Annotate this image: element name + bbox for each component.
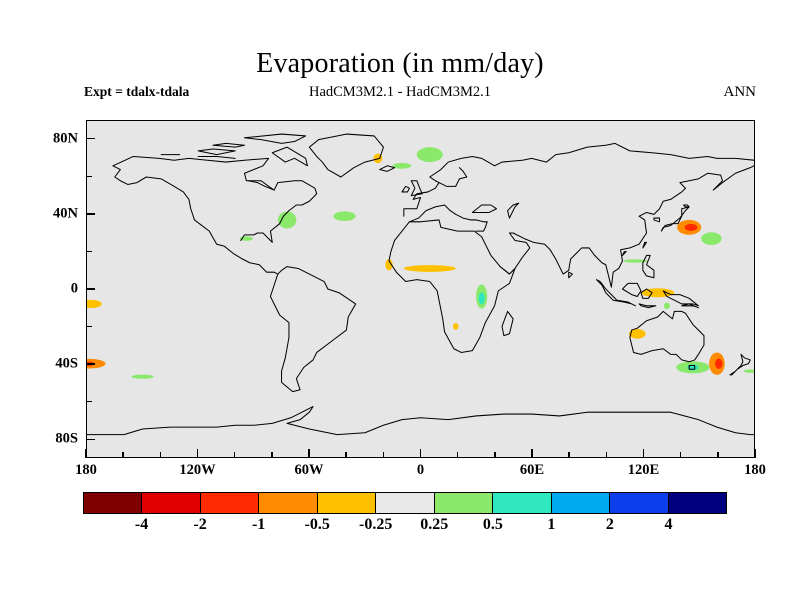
y-tick [86,439,95,440]
coastline [639,304,656,308]
colorbar-segment-3 [259,493,317,513]
x-tick [345,452,346,458]
coastline [569,272,573,278]
y-tick [86,401,92,402]
x-tick [308,449,309,458]
colorbar-segment-4 [318,493,376,513]
colorbar-label-7: 1 [547,516,555,534]
x-tick [85,449,86,458]
anomaly-patch-3 [278,212,297,229]
x-tick-label-6: 180 [744,462,766,479]
coastline [309,134,383,177]
coastline-layer [87,134,754,435]
x-tick [271,452,272,458]
x-tick [643,449,644,458]
y-tick [86,251,92,252]
coastline [500,166,754,287]
x-tick [754,449,755,458]
colorbar-segment-7 [493,493,551,513]
y-tick [86,326,92,327]
anomaly-patch-5 [333,211,355,221]
coastline [272,147,307,166]
coastline [198,156,235,158]
coastline [622,252,626,256]
x-tick-label-0: 180 [75,462,97,479]
anomaly-patch-8 [393,163,412,169]
coastline [404,143,754,216]
page-title: Evaporation (in mm/day) [0,48,800,80]
colorbar-segment-2 [201,493,259,513]
x-tick [160,452,161,458]
anomaly-patch-25 [715,358,722,368]
coastline [643,242,647,248]
colorbar-segment-0 [84,493,142,513]
x-tick-label-3: 0 [417,462,424,479]
x-tick-label-1: 120W [179,462,215,479]
x-tick-label-5: 120E [628,462,659,479]
coastline [270,267,355,392]
coastline [684,205,690,207]
colorbar-label-6: 0.5 [483,516,503,534]
y-tick [86,138,95,139]
y-tick-label-4: 80S [55,431,78,448]
coastline [87,407,754,435]
x-tick [531,449,532,458]
anomaly-patch-13 [453,323,459,330]
colorbar-segment-6 [435,493,493,513]
x-tick [717,452,718,458]
colorbar-label-0: -4 [135,516,148,534]
colorbar-segment-10 [669,493,726,513]
coastline [248,181,274,190]
x-tick [457,452,458,458]
coastline [508,203,519,218]
anomaly-patch-layer [87,147,754,379]
y-tick-label-2: 0 [71,281,78,298]
anomaly-patch-26 [744,369,754,372]
colorbar-segment-5 [376,493,434,513]
colorbar-segment-9 [610,493,668,513]
coastline [622,283,641,296]
anomaly-patch-14 [87,300,102,308]
colorbar-segment-1 [142,493,200,513]
coastline [409,205,487,231]
x-tick [420,449,421,458]
x-tick [197,449,198,458]
coastline [439,168,467,187]
x-tick [680,452,681,458]
colorbar-label-3: -0.5 [305,516,330,534]
y-tick-label-3: 40S [55,356,78,373]
world-map-plot [86,120,755,458]
coastline [472,205,496,212]
x-tick [568,452,569,458]
x-tick [494,452,495,458]
x-tick [606,452,607,458]
x-tick [383,452,384,458]
coastline [113,156,317,242]
anomaly-patch-7 [417,147,443,162]
anomaly-patch-17 [701,232,721,245]
coastline [389,220,515,353]
coastline [380,166,395,172]
y-tick [86,213,95,214]
colorbar-segment-8 [552,493,610,513]
y-tick-label-1: 40N [53,205,78,222]
colorbar-label-4: -0.25 [359,516,392,534]
x-tick [122,452,123,458]
colorbar-label-9: 4 [664,516,672,534]
coastline [213,143,244,147]
x-tick [234,452,235,458]
season-label: ANN [724,84,757,101]
y-tick [86,176,92,177]
colorbar-label-8: 2 [606,516,614,534]
coastline [654,218,660,222]
coastline [502,311,513,335]
model-label: HadCM3M2.1 - HadCM3M2.1 [0,84,800,101]
y-tick [86,363,95,364]
anomaly-patch-21 [664,302,670,309]
colorbar-label-1: -2 [193,516,206,534]
anomaly-patch-16 [685,224,698,231]
anomaly-patch-10 [404,265,456,272]
x-tick-label-4: 60E [520,462,544,479]
colorbar [83,492,727,514]
colorbar-label-5: 0.25 [420,516,448,534]
coastline [244,134,305,143]
x-tick-label-2: 60W [295,462,324,479]
colorbar-label-2: -1 [252,516,265,534]
map-canvas [87,121,754,457]
y-tick-label-0: 80N [53,130,78,147]
anomaly-patch-12 [478,292,484,304]
chart-header: Evaporation (in mm/day) Expt = tdalx-tda… [0,0,800,115]
coastline [402,186,409,192]
coastline [643,255,654,277]
y-tick [86,288,95,289]
coastline [198,149,235,155]
anomaly-patch-2 [131,375,153,379]
